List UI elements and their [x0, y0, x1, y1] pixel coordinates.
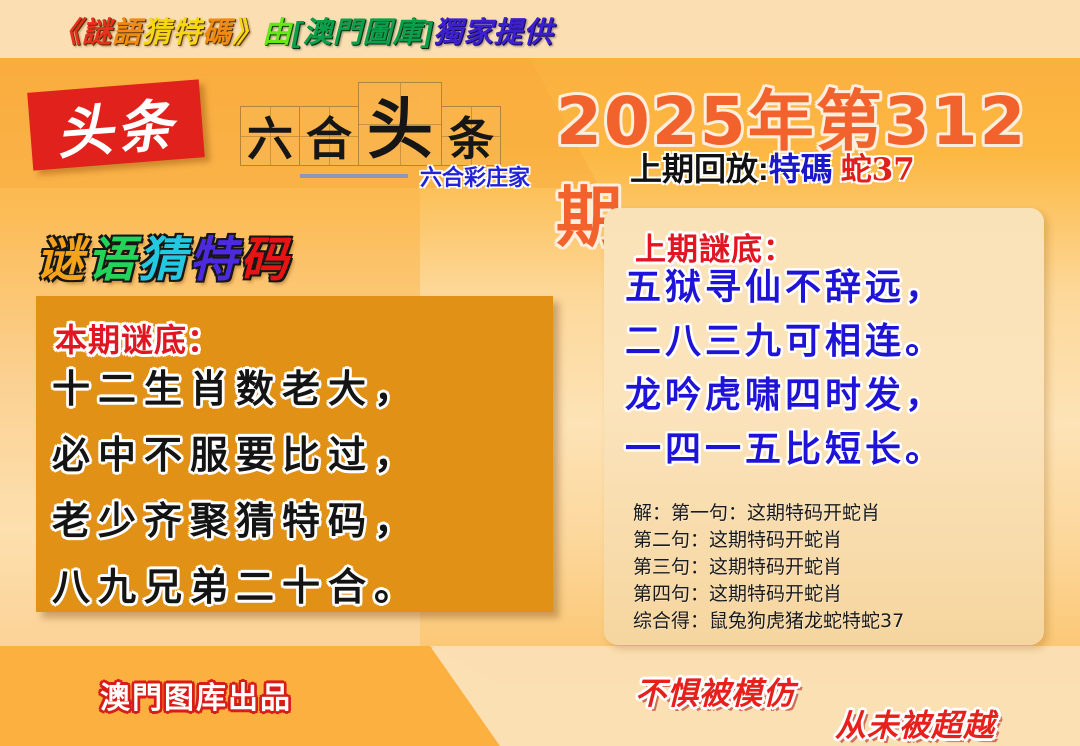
- subtitle-rule: [300, 174, 408, 178]
- current-riddle-label: 本期谜底：: [55, 315, 220, 361]
- rainbow-char-4: 码: [240, 237, 291, 285]
- slogan-secondary: 从未被超越: [835, 700, 995, 745]
- logo-tile-0: 六: [240, 106, 300, 166]
- previous-riddle-explanation: 解：第一句：这期特码开蛇肖第二句：这期特码开蛇肖第三句：这期特码开蛇肖第四句：这…: [633, 500, 1033, 635]
- recap-number: 蛇37: [833, 152, 915, 188]
- brand-credit-left: 澳門图库出品: [100, 673, 292, 717]
- explanation-line-2: 第三句：这期特码开蛇肖: [633, 554, 1033, 581]
- logo-tile-grid: 六合头条: [240, 82, 500, 166]
- recap-label: 上期回放:: [630, 151, 769, 187]
- logo-tile-char: 头: [367, 76, 433, 172]
- explanation-line-4: 综合得：鼠兔狗虎猪龙蛇特蛇37: [633, 608, 1033, 635]
- rainbow-char-2: 猜: [138, 237, 189, 285]
- explanation-line-0: 解：第一句：这期特码开蛇肖: [633, 500, 1033, 527]
- poster-canvas: 《謎語猜特碼》 由 [澳門圖庫] 獨家提供 头条 六合头条 六合彩庄家 2025…: [0, 0, 1080, 746]
- rainbow-char-1: 语: [87, 237, 138, 285]
- current-riddle-lines: 十二生肖数老大，必中不服要比过，老少齐聚猜特码，八九兄弟二十合。: [52, 356, 538, 620]
- header-segment-3: 猜: [142, 19, 172, 48]
- recap-special-label: 特碼: [769, 151, 833, 187]
- current-riddle-line-0: 十二生肖数老大，: [52, 356, 538, 422]
- header-tagline: 《謎語猜特碼》 由 [澳門圖庫] 獨家提供: [52, 19, 553, 48]
- header-segment-4: 特: [172, 19, 202, 48]
- header-segment-9: 獨家提供: [433, 19, 553, 48]
- header-segment-2: 語: [112, 19, 142, 48]
- toutiao-badge-label: 头条: [27, 79, 205, 170]
- header-segment-5: 碼: [202, 19, 232, 48]
- last-draw-recap: 上期回放:特碼蛇37: [630, 153, 915, 186]
- logo-tile-char: 合: [306, 103, 352, 169]
- toutiao-badge: 头条: [27, 79, 205, 170]
- previous-riddle-line-1: 二八三九可相连。: [625, 314, 1037, 368]
- header-segment-6: 》: [232, 19, 262, 48]
- rainbow-char-3: 特: [189, 237, 240, 285]
- logo-tile-char: 条: [448, 103, 494, 169]
- explanation-line-3: 第四句：这期特码开蛇肖: [633, 581, 1033, 608]
- current-riddle-line-3: 八九兄弟二十合。: [52, 554, 538, 620]
- current-riddle-line-2: 老少齐聚猜特码，: [52, 488, 538, 554]
- logo-tile-char: 六: [247, 103, 293, 169]
- previous-riddle-line-0: 五狱寻仙不辞远，: [625, 260, 1037, 314]
- previous-riddle-line-3: 一四一五比短长。: [625, 422, 1037, 476]
- logo-tile-3: 条: [441, 106, 501, 166]
- header-segment-1: 謎: [82, 19, 112, 48]
- logo-tile-2: 头: [358, 82, 442, 166]
- logo-tile-1: 合: [299, 106, 359, 166]
- rainbow-char-0: 谜: [36, 237, 87, 285]
- header-segment-0: 《: [52, 19, 82, 48]
- explanation-line-1: 第二句：这期特码开蛇肖: [633, 527, 1033, 554]
- left-rainbow-title: 谜语猜特码: [36, 237, 291, 285]
- slogan-primary: 不惧被模仿: [635, 668, 795, 713]
- header-segment-8: [澳門圖庫]: [292, 19, 433, 48]
- previous-riddle-lines: 五狱寻仙不辞远，二八三九可相连。龙吟虎啸四时发，一四一五比短长。: [625, 260, 1037, 476]
- current-riddle-line-1: 必中不服要比过，: [52, 422, 538, 488]
- previous-riddle-line-2: 龙吟虎啸四时发，: [625, 368, 1037, 422]
- header-segment-7: 由: [262, 19, 292, 48]
